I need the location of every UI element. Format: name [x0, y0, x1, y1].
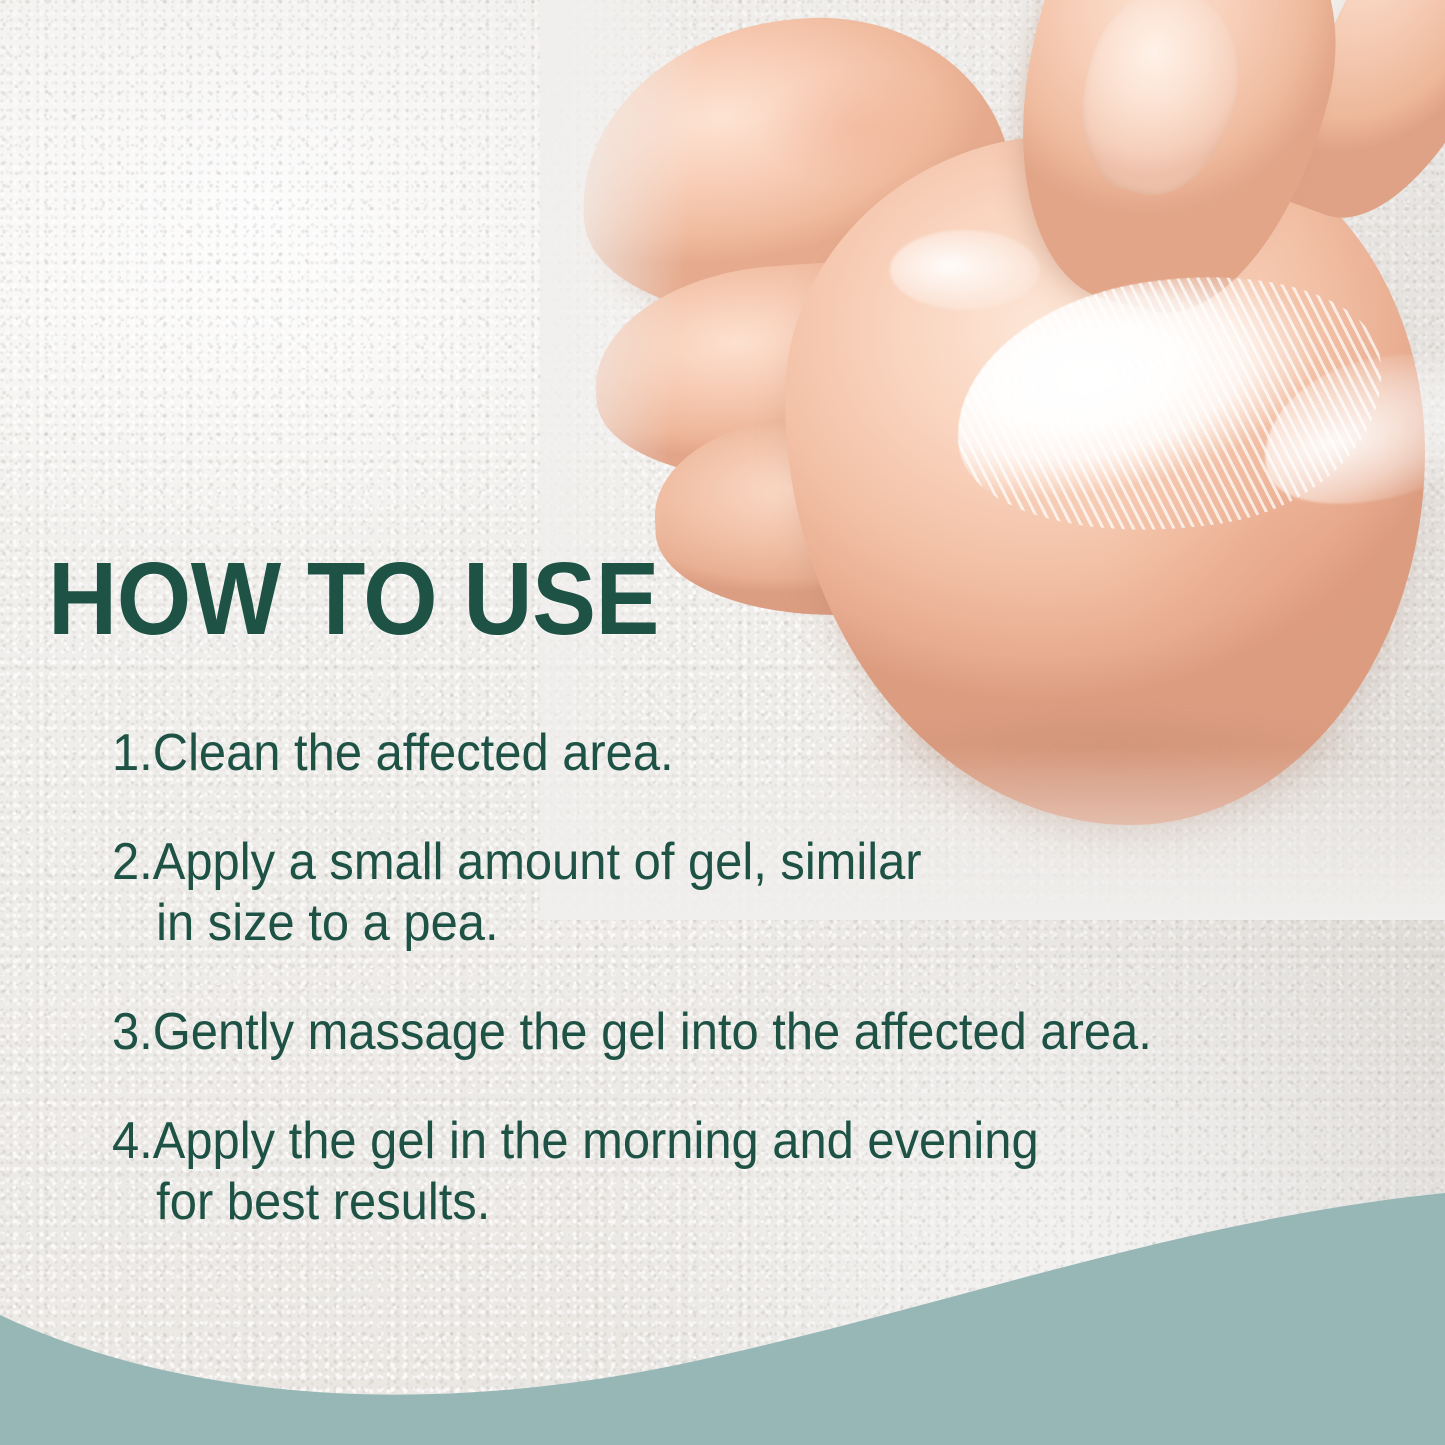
- step-text-line1: 2.Apply a small amount of gel, similar: [112, 833, 922, 891]
- instruction-list: 1.Clean the affected area. 2.Apply a sma…: [112, 723, 1334, 1232]
- cream-dab-on-toe: [890, 230, 1040, 310]
- step-text-line1: 1.Clean the affected area.: [112, 724, 674, 782]
- list-item: 2.Apply a small amount of gel, similar i…: [112, 832, 1334, 953]
- how-to-use-poster: HOW TO USE 1.Clean the affected area. 2.…: [0, 0, 1445, 1445]
- list-item: 3.Gently massage the gel into the affect…: [112, 1002, 1334, 1062]
- step-text-line2: in size to a pea.: [112, 893, 1334, 953]
- page-title: HOW TO USE: [48, 547, 659, 650]
- bottom-wave-decoration: [0, 1185, 1445, 1445]
- step-text-line1: 4.Apply the gel in the morning and eveni…: [112, 1112, 1039, 1170]
- list-item: 1.Clean the affected area.: [112, 723, 1334, 783]
- step-text-line1: 3.Gently massage the gel into the affect…: [112, 1003, 1152, 1061]
